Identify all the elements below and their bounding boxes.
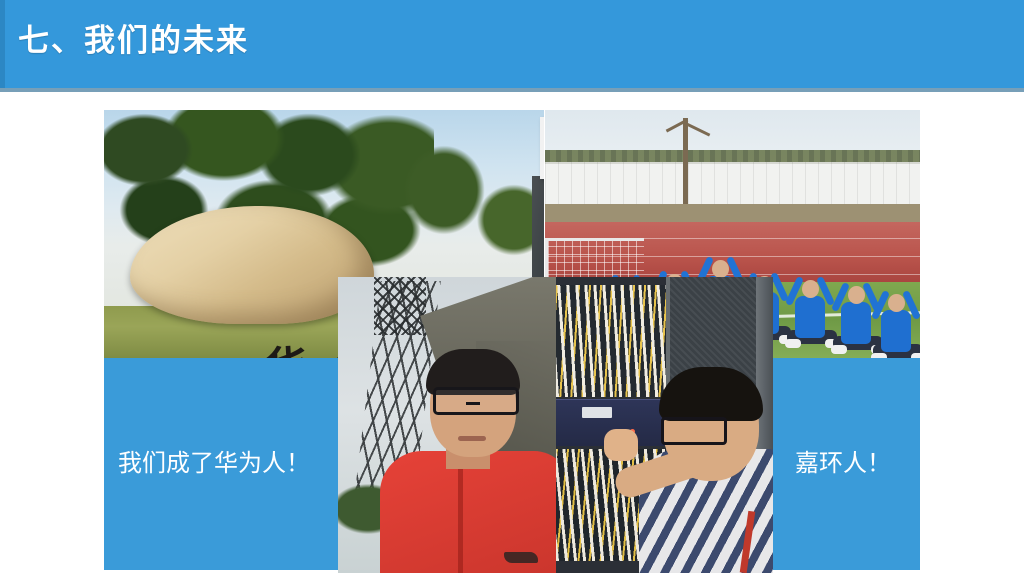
title-banner-left-edge [0, 0, 5, 88]
caption-left: 我们成了华为人！ [118, 446, 310, 480]
presentation-slide: 七、我们的未来 华 为 HUAWEI [0, 0, 1024, 576]
title-banner-underline [0, 88, 1024, 92]
eyeglasses [433, 387, 519, 415]
stone-character-1: 华 [262, 331, 309, 358]
mouth [458, 436, 486, 441]
bare-tree-trunk [683, 118, 688, 214]
eyeglasses-bridge [466, 402, 480, 405]
equipment-label [582, 407, 612, 418]
engineer-eyeglasses [661, 417, 727, 445]
fiber-patch-panel-top [556, 285, 674, 397]
photo-server-rack-engineer [556, 277, 773, 573]
caption-right: 嘉环人！ [795, 446, 891, 480]
huawei-monument-sign [540, 117, 544, 179]
jacket-brand-logo [504, 552, 538, 563]
dirt-strip [545, 204, 920, 224]
page-title: 七、我们的未来 [18, 19, 249, 63]
jacket-zipper [458, 465, 463, 573]
tower-antenna-array [374, 277, 426, 335]
photo-tower-selfie [338, 277, 556, 573]
engineer-hand [604, 429, 638, 461]
wall-texture [545, 162, 920, 204]
tree-canopy-right [404, 130, 544, 280]
